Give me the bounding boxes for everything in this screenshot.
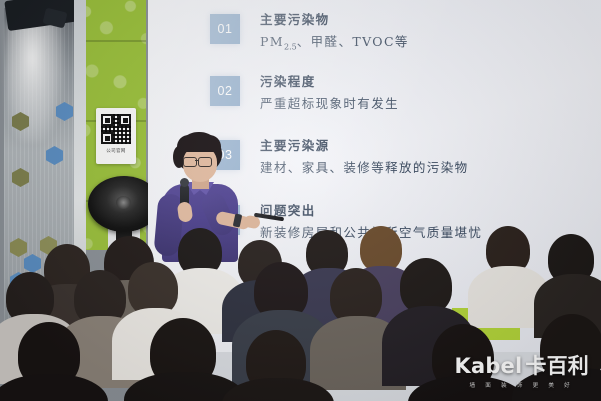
qr-poster-caption: 公司官网	[106, 148, 126, 154]
slide-item-03: 03 主要污染源 建材、家具、装修等释放的污染物	[210, 140, 469, 174]
watermark-brand-latin: Kabel	[454, 354, 522, 378]
slide-item-02: 02 污染程度 严重超标现象时有发生	[210, 76, 399, 110]
qr-poster[interactable]: 公司官网	[96, 108, 136, 164]
slide-badge-02: 02	[210, 76, 240, 106]
presenter-fringe	[177, 135, 221, 152]
slide-title-04: 问题突出	[260, 205, 482, 218]
slide-detail-01: PM2.5、甲醛、TVOC等	[260, 36, 409, 52]
brand-watermark: Kabel卡百利 墙 面 装 饰 更 美 好	[454, 356, 589, 389]
slide-item-01: 01 主要污染物 PM2.5、甲醛、TVOC等	[210, 14, 409, 51]
slide-title-02: 污染程度	[260, 76, 399, 89]
watermark-tagline: 墙 面 装 饰 更 美 好	[454, 381, 589, 389]
slide-detail-03: 建材、家具、装修等释放的污染物	[260, 162, 469, 175]
glasses-icon	[198, 157, 212, 167]
watermark-brand: Kabel卡百利	[454, 356, 589, 377]
slide-title-03: 主要污染源	[260, 140, 469, 153]
glasses-icon	[183, 157, 197, 167]
slide-detail-02: 严重超标现象时有发生	[260, 98, 399, 111]
speaker-cone	[88, 176, 152, 232]
slide-badge-01: 01	[210, 14, 240, 44]
qr-code-icon	[101, 114, 131, 144]
glasses-bridge	[195, 160, 198, 161]
watermark-brand-cn: 卡百利	[525, 354, 589, 378]
slide-title-01: 主要污染物	[260, 14, 409, 27]
presentation-photo: 公司官网 01 主要污染物 PM2.5、甲醛、TVOC等 02 污染程度	[0, 0, 601, 401]
panel-seam	[86, 40, 146, 42]
